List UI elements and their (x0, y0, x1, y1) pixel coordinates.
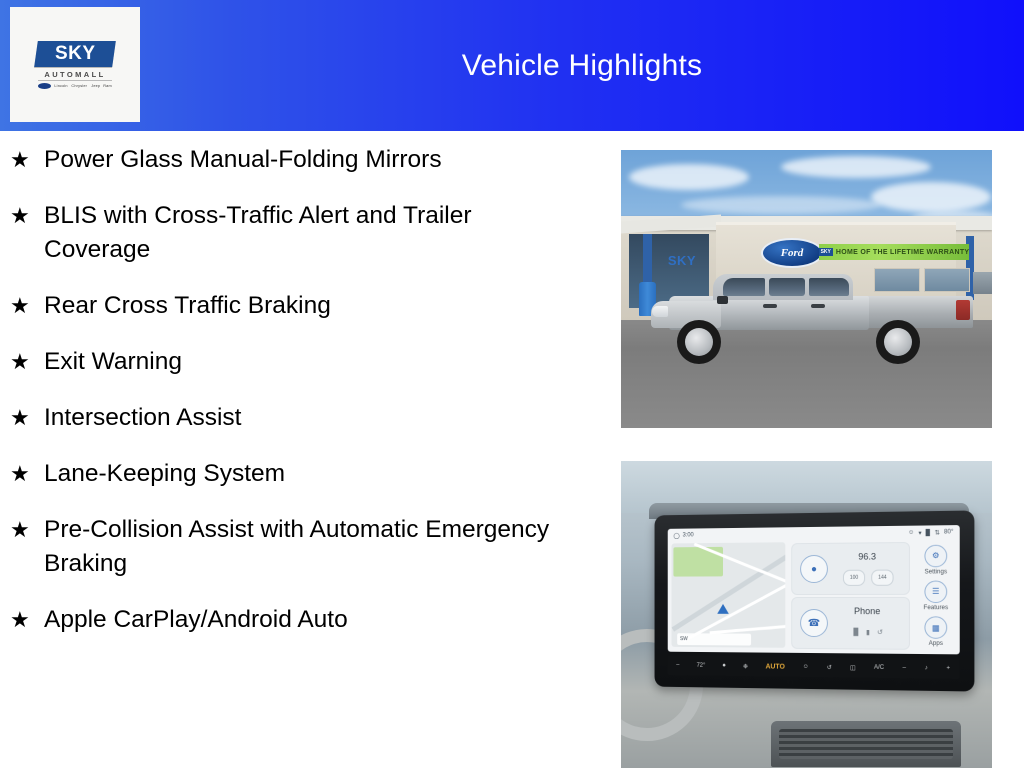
volume-icon[interactable]: ♪ (925, 665, 928, 671)
volume-down-icon[interactable]: – (903, 665, 906, 671)
radio-station-text: 96.3 (832, 551, 903, 562)
brand-label-jeep: Jeep (91, 83, 100, 88)
bluetooth-icon: ⇅ (935, 529, 940, 536)
phone-card[interactable]: ☎ Phone ▉ ▮ ↺ (791, 597, 910, 650)
list-item: ★ BLIS with Cross-Traffic Alert and Trai… (0, 199, 600, 267)
logo-sky-text: SKY (55, 43, 96, 65)
logo-sky-badge: SKY (34, 41, 116, 67)
radio-preset-button[interactable]: 100 (843, 570, 865, 586)
list-item: ★ Intersection Assist (0, 401, 600, 435)
dealer-wall-sign: SKY (659, 250, 705, 270)
infotainment-screen[interactable]: ◯ 3:00 ☺ ▾ ▉ ⇅ 80° (668, 525, 960, 654)
volume-up-icon[interactable]: + (946, 666, 950, 672)
taillight (956, 300, 970, 320)
door-handle (763, 304, 777, 308)
highlight-text: Rear Cross Traffic Braking (44, 289, 574, 323)
phone-call-icon[interactable]: ☎ (800, 609, 828, 637)
settings-button[interactable]: ⚙ Settings (924, 544, 947, 575)
navigation-position-arrow (717, 604, 729, 614)
clock-icon: ◯ (673, 532, 679, 539)
power-icon[interactable]: ⏺ (723, 663, 726, 670)
list-item: ★ Exit Warning (0, 345, 600, 379)
air-vent (771, 721, 961, 767)
page-title: Vehicle Highlights (140, 0, 1024, 131)
navigation-map-pane[interactable]: SW (672, 542, 786, 648)
phone-status-icons: ▉ ▮ ↺ (836, 628, 901, 636)
dealer-logo[interactable]: SKY AUTOMALL Lincoln Chrysler Jeep Ram (10, 7, 140, 122)
side-mirror (717, 296, 728, 304)
slide-body: ★ Power Glass Manual-Folding Mirrors ★ B… (0, 131, 1024, 768)
banner-sky-badge: SKY (819, 248, 833, 256)
brand-label-lincoln: Lincoln (54, 83, 67, 88)
clock-text: 3:00 (683, 532, 694, 538)
screen-side-buttons: ⚙ Settings ☰ Features ▦ Apps (914, 541, 958, 650)
front-door-glass (769, 278, 805, 296)
vehicle-exterior-photo: SKY Ford SKY HOME OF THE LIFETIME WARRAN… (621, 150, 992, 428)
list-item: ★ Power Glass Manual-Folding Mirrors (0, 143, 600, 177)
warranty-banner: SKY HOME OF THE LIFETIME WARRANTY (819, 244, 969, 260)
ford-oval-sign: Ford (761, 238, 823, 268)
brand-label-ram: Ram (103, 83, 112, 88)
profile-icon: ☺ (908, 530, 914, 536)
logo-divider (38, 80, 112, 81)
star-bullet-icon: ★ (10, 603, 44, 637)
brand-label-chrysler: Chrysler (71, 83, 87, 88)
pickup-truck (651, 268, 973, 358)
door-handle (811, 304, 825, 308)
apps-label: Apps (929, 641, 943, 647)
list-item: ★ Apple CarPlay/Android Auto (0, 603, 600, 637)
star-bullet-icon: ★ (10, 289, 44, 323)
cloud-shape (781, 156, 931, 178)
headlight (652, 306, 668, 317)
background-vehicles (973, 272, 992, 294)
temp-decrease-icon[interactable]: – (676, 663, 679, 669)
highlight-text: Pre-Collision Assist with Automatic Emer… (44, 513, 574, 581)
windshield-glass (723, 278, 765, 296)
front-defrost-icon[interactable]: ☺ (803, 664, 809, 670)
recirculate-icon[interactable]: ↺ (827, 664, 832, 671)
features-icon: ☰ (924, 581, 947, 604)
rear-wheel (876, 320, 920, 364)
gear-icon: ⚙ (924, 544, 947, 567)
list-item: ★ Lane-Keeping System (0, 457, 600, 491)
status-right: ☺ ▾ ▉ ⇅ 80° (908, 529, 953, 537)
signal-bars-icon: ▉ (853, 628, 858, 636)
screen-status-bar: ◯ 3:00 ☺ ▾ ▉ ⇅ 80° (668, 525, 960, 542)
logo-inner: SKY AUTOMALL Lincoln Chrysler Jeep Ram (25, 41, 125, 89)
highlight-text: Apple CarPlay/Android Auto (44, 603, 574, 637)
star-bullet-icon: ★ (10, 513, 44, 547)
signal-icon: ▉ (926, 529, 931, 536)
highlights-list: ★ Power Glass Manual-Folding Mirrors ★ B… (0, 131, 600, 659)
rear-defrost-icon[interactable]: ◫ (850, 664, 856, 671)
highlight-text: BLIS with Cross-Traffic Alert and Traile… (44, 199, 574, 267)
star-bullet-icon: ★ (10, 199, 44, 233)
features-button[interactable]: ☰ Features (924, 580, 949, 611)
star-bullet-icon: ★ (10, 143, 44, 177)
radio-preset-button[interactable]: 144 (871, 570, 893, 586)
star-bullet-icon: ★ (10, 401, 44, 435)
features-label: Features (924, 605, 949, 611)
wifi-icon: ▾ (918, 529, 921, 536)
front-wheel (677, 320, 721, 364)
radio-preset-row: 100 144 (834, 569, 903, 585)
highlight-text: Exit Warning (44, 345, 574, 379)
radio-card[interactable]: ● 96.3 100 144 (791, 542, 910, 595)
cloud-shape (681, 196, 881, 214)
star-bullet-icon: ★ (10, 457, 44, 491)
outside-temp-text: 80° (944, 529, 953, 535)
highlight-text: Power Glass Manual-Folding Mirrors (44, 143, 574, 177)
list-item: ★ Rear Cross Traffic Braking (0, 289, 600, 323)
highlight-text: Intersection Assist (44, 401, 574, 435)
cloud-shape (871, 182, 991, 212)
ford-oval-icon (38, 83, 51, 89)
status-left: ◯ 3:00 (673, 532, 693, 539)
phone-card-title: Phone (832, 606, 903, 616)
climate-auto-label[interactable]: AUTO (765, 663, 784, 670)
highlight-text: Lane-Keeping System (44, 457, 574, 491)
ac-label[interactable]: A/C (874, 665, 884, 671)
recent-calls-icon: ↺ (877, 628, 883, 636)
banner-text: HOME OF THE LIFETIME WARRANTY (836, 249, 969, 256)
settings-label: Settings (925, 569, 947, 575)
climate-temp-text: 72° (697, 663, 706, 669)
logo-automall-text: AUTOMALL (44, 70, 105, 79)
page-header: Vehicle Highlights (0, 0, 1024, 131)
logo-brand-strip: Lincoln Chrysler Jeep Ram (38, 83, 112, 89)
map-direction-chip: SW (677, 633, 751, 645)
cloud-shape (629, 164, 749, 190)
list-item: ★ Pre-Collision Assist with Automatic Em… (0, 513, 600, 581)
fan-icon[interactable]: ❉ (743, 663, 748, 670)
climate-control-bar[interactable]: – 72° ⏺ ❉ AUTO ☺ ↺ ◫ A/C – ♪ + (668, 656, 960, 679)
star-bullet-icon: ★ (10, 345, 44, 379)
apps-button[interactable]: ▦ Apps (924, 617, 947, 648)
infotainment-bezel: ◯ 3:00 ☺ ▾ ▉ ⇅ 80° (655, 510, 975, 691)
radio-source-icon[interactable]: ● (800, 555, 828, 583)
vehicle-interior-photo: ◯ 3:00 ☺ ▾ ▉ ⇅ 80° (621, 461, 992, 768)
vent-slats (779, 729, 953, 759)
battery-icon: ▮ (866, 628, 870, 636)
apps-grid-icon: ▦ (924, 617, 947, 640)
rear-door-glass (809, 278, 849, 296)
